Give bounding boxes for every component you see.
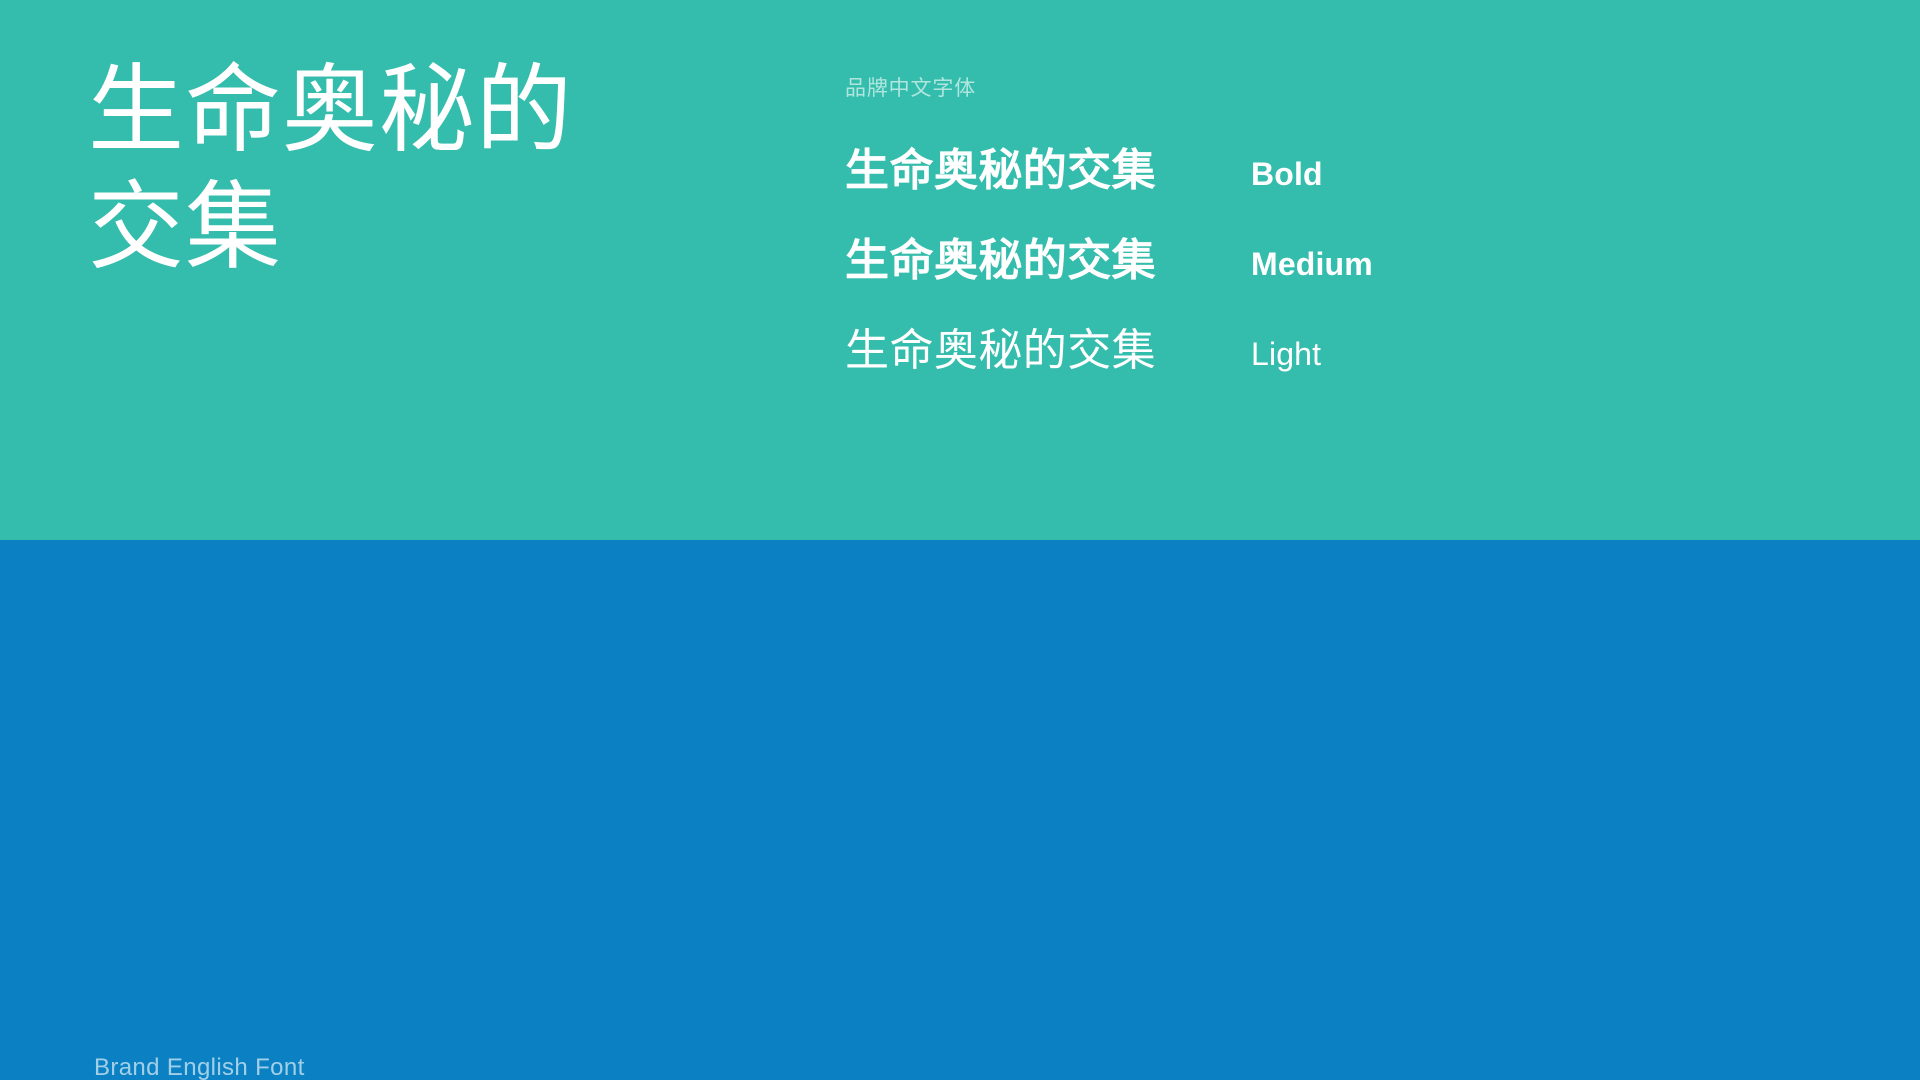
weight-label-cn-bold: Bold <box>1251 156 1323 193</box>
specimen-row-cn-light: 生命奥秘的交集 Light <box>845 314 1865 404</box>
specimen-sample-cn-light: 生命奥秘的交集 <box>845 314 1251 378</box>
english-font-panel: Brand English Font Mysteries of life Bol… <box>0 540 1920 1080</box>
specimen-sample-cn-medium: 生命奥秘的交集 <box>845 224 1251 288</box>
chinese-hero-headline: 生命奥秘的 交集 <box>88 52 728 286</box>
weight-label-cn-medium: Medium <box>1251 246 1373 283</box>
specimen-row-cn-bold: 生命奥秘的交集 Bold <box>845 134 1865 224</box>
chinese-weight-specimen-list: 生命奥秘的交集 Bold 生命奥秘的交集 Medium 生命奥秘的交集 Ligh… <box>845 134 1865 404</box>
specimen-sample-cn-bold: 生命奥秘的交集 <box>845 134 1251 198</box>
specimen-row-cn-medium: 生命奥秘的交集 Medium <box>845 224 1865 314</box>
chinese-font-panel: 生命奥秘的 交集 品牌中文字体 生命奥秘的交集 Bold 生命奥秘的交集 Med… <box>0 0 1920 540</box>
chinese-section-label: 品牌中文字体 <box>845 72 976 102</box>
english-section-label: Brand English Font <box>94 1054 305 1080</box>
weight-label-cn-light: Light <box>1251 336 1321 373</box>
brand-typography-specimen: 生命奥秘的 交集 品牌中文字体 生命奥秘的交集 Bold 生命奥秘的交集 Med… <box>0 0 1920 1080</box>
